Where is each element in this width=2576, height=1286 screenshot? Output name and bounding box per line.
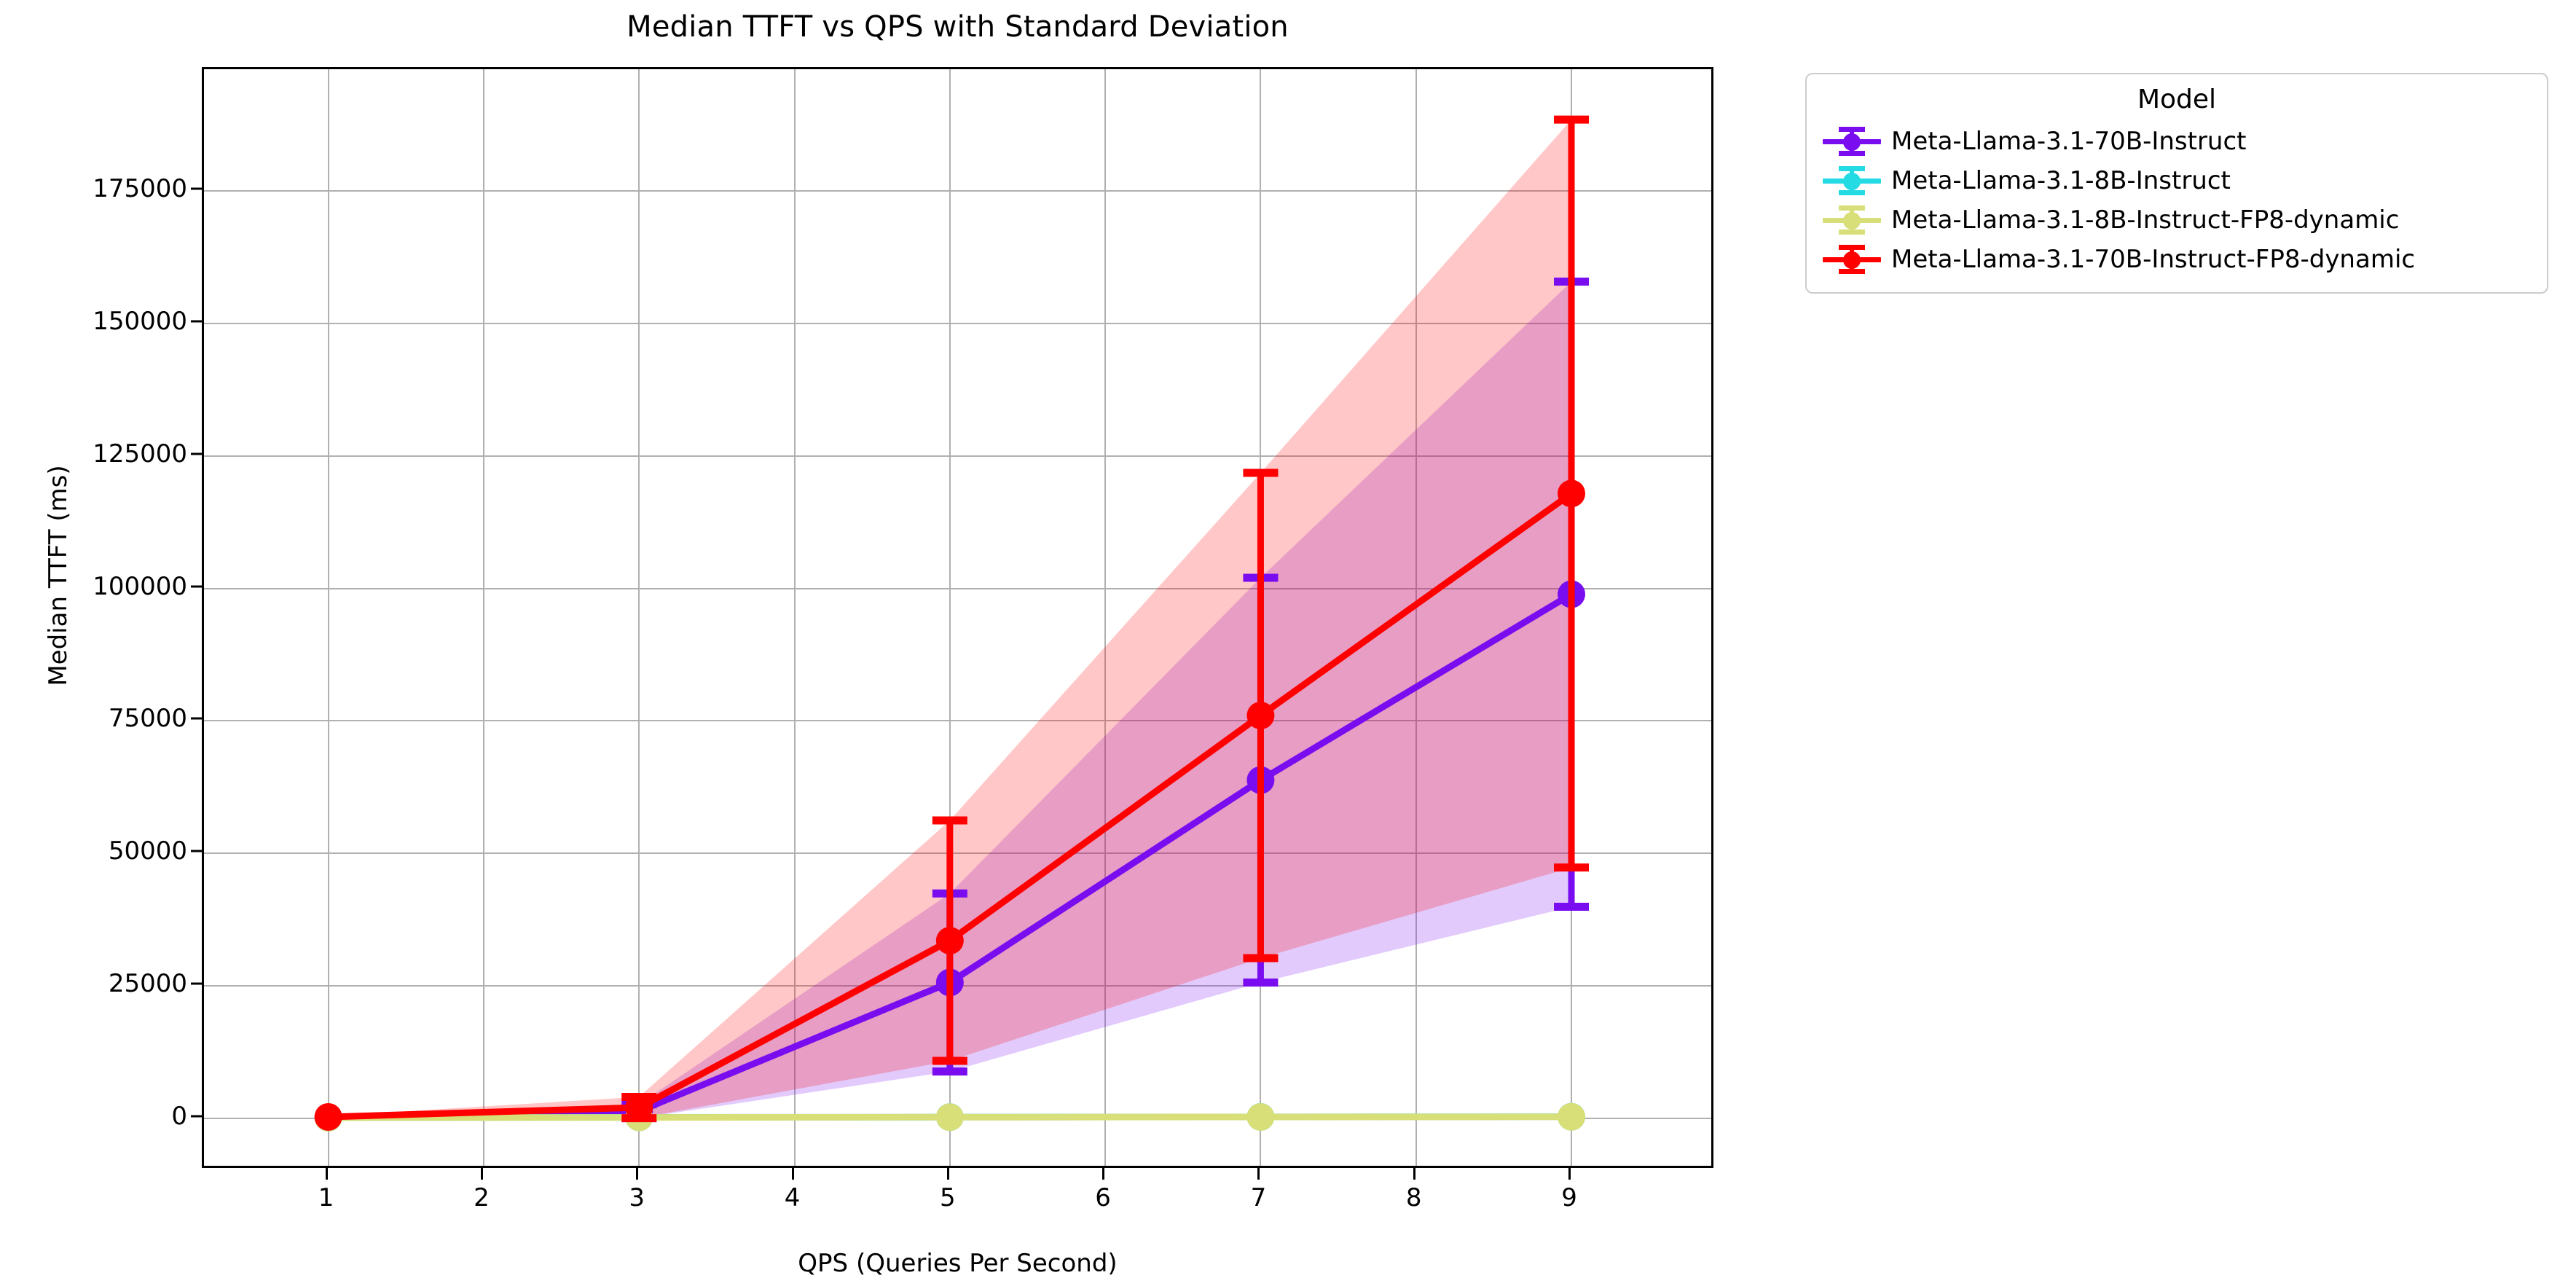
x-axis-tick-mark — [636, 1168, 638, 1180]
data-point-marker — [315, 1103, 342, 1131]
x-axis-label: QPS (Queries Per Second) — [202, 1249, 1713, 1278]
x-axis-tick-label: 9 — [1540, 1183, 1598, 1212]
x-axis-tick-mark — [792, 1168, 794, 1180]
data-point-marker — [1246, 702, 1274, 729]
x-axis-tick-label: 8 — [1385, 1183, 1443, 1212]
x-axis-tick-label: 2 — [452, 1183, 511, 1212]
x-axis-tick-label: 5 — [919, 1183, 977, 1212]
legend-item[interactable]: Meta-Llama-3.1-8B-Instruct-FP8-dynamic — [1823, 200, 2531, 240]
x-axis-tick-mark — [947, 1168, 949, 1180]
x-axis-tick-mark — [1568, 1168, 1571, 1180]
x-axis-tick-label: 4 — [763, 1183, 822, 1212]
legend: Model Meta-Llama-3.1-70B-InstructMeta-Ll… — [1805, 73, 2548, 294]
legend-item-label: Meta-Llama-3.1-8B-Instruct — [1891, 166, 2231, 195]
x-axis-tick-mark — [1413, 1168, 1415, 1180]
y-axis-tick-label: 50000 — [0, 836, 187, 866]
legend-item[interactable]: Meta-Llama-3.1-70B-Instruct-FP8-dynamic — [1823, 240, 2531, 279]
legend-item[interactable]: Meta-Llama-3.1-70B-Instruct — [1823, 122, 2531, 161]
y-axis-tick-mark — [191, 188, 203, 190]
chart-page: Median TTFT vs QPS with Standard Deviati… — [0, 0, 2576, 1286]
plot-svg — [204, 69, 1711, 1166]
y-axis-tick-mark — [191, 718, 203, 720]
y-axis-tick-mark — [191, 585, 203, 587]
x-axis-tick-mark — [1102, 1168, 1104, 1180]
y-axis-tick-label: 75000 — [0, 704, 187, 733]
y-axis-tick-label: 100000 — [0, 572, 187, 601]
y-axis-tick-label: 25000 — [0, 969, 187, 998]
x-axis-tick-label: 7 — [1229, 1183, 1287, 1212]
plot-area — [202, 67, 1713, 1168]
legend-marker-icon — [1823, 127, 1881, 156]
data-point-marker — [936, 1103, 964, 1131]
data-point-marker — [936, 927, 964, 954]
data-point-marker — [1558, 1103, 1585, 1131]
legend-marker-icon — [1823, 245, 1881, 274]
legend-item[interactable]: Meta-Llama-3.1-8B-Instruct — [1823, 161, 2531, 200]
x-axis-tick-mark — [481, 1168, 483, 1180]
y-axis-tick-label: 150000 — [0, 307, 187, 336]
data-point-marker — [625, 1094, 653, 1121]
y-axis-tick-mark — [191, 982, 203, 984]
y-axis-tick-mark — [191, 452, 203, 455]
legend-marker-icon — [1823, 205, 1881, 235]
legend-marker-icon — [1823, 166, 1881, 195]
legend-items: Meta-Llama-3.1-70B-InstructMeta-Llama-3.… — [1823, 122, 2531, 279]
data-point-marker — [1246, 1103, 1274, 1131]
legend-item-label: Meta-Llama-3.1-70B-Instruct-FP8-dynamic — [1891, 245, 2415, 274]
y-axis-tick-label: 175000 — [0, 174, 187, 203]
x-axis-tick-mark — [1257, 1168, 1260, 1180]
figure: Median TTFT vs QPS with Standard Deviati… — [0, 0, 1792, 1286]
legend-item-label: Meta-Llama-3.1-70B-Instruct — [1891, 127, 2247, 156]
x-axis-tick-label: 6 — [1074, 1183, 1132, 1212]
data-point-marker — [1558, 479, 1585, 507]
y-axis-tick-mark — [191, 1115, 203, 1117]
y-axis-tick-label: 125000 — [0, 439, 187, 468]
y-axis-tick-mark — [191, 320, 203, 322]
legend-item-label: Meta-Llama-3.1-8B-Instruct-FP8-dynamic — [1891, 205, 2399, 235]
y-axis-tick-mark — [191, 850, 203, 852]
x-axis-tick-mark — [326, 1168, 328, 1180]
x-axis-tick-label: 1 — [297, 1183, 356, 1212]
page-title: Median TTFT vs QPS with Standard Deviati… — [202, 10, 1713, 44]
plot-inner — [204, 69, 1711, 1166]
x-axis-tick-label: 3 — [608, 1183, 666, 1212]
legend-title: Model — [1823, 85, 2531, 114]
y-axis-tick-label: 0 — [0, 1102, 187, 1131]
